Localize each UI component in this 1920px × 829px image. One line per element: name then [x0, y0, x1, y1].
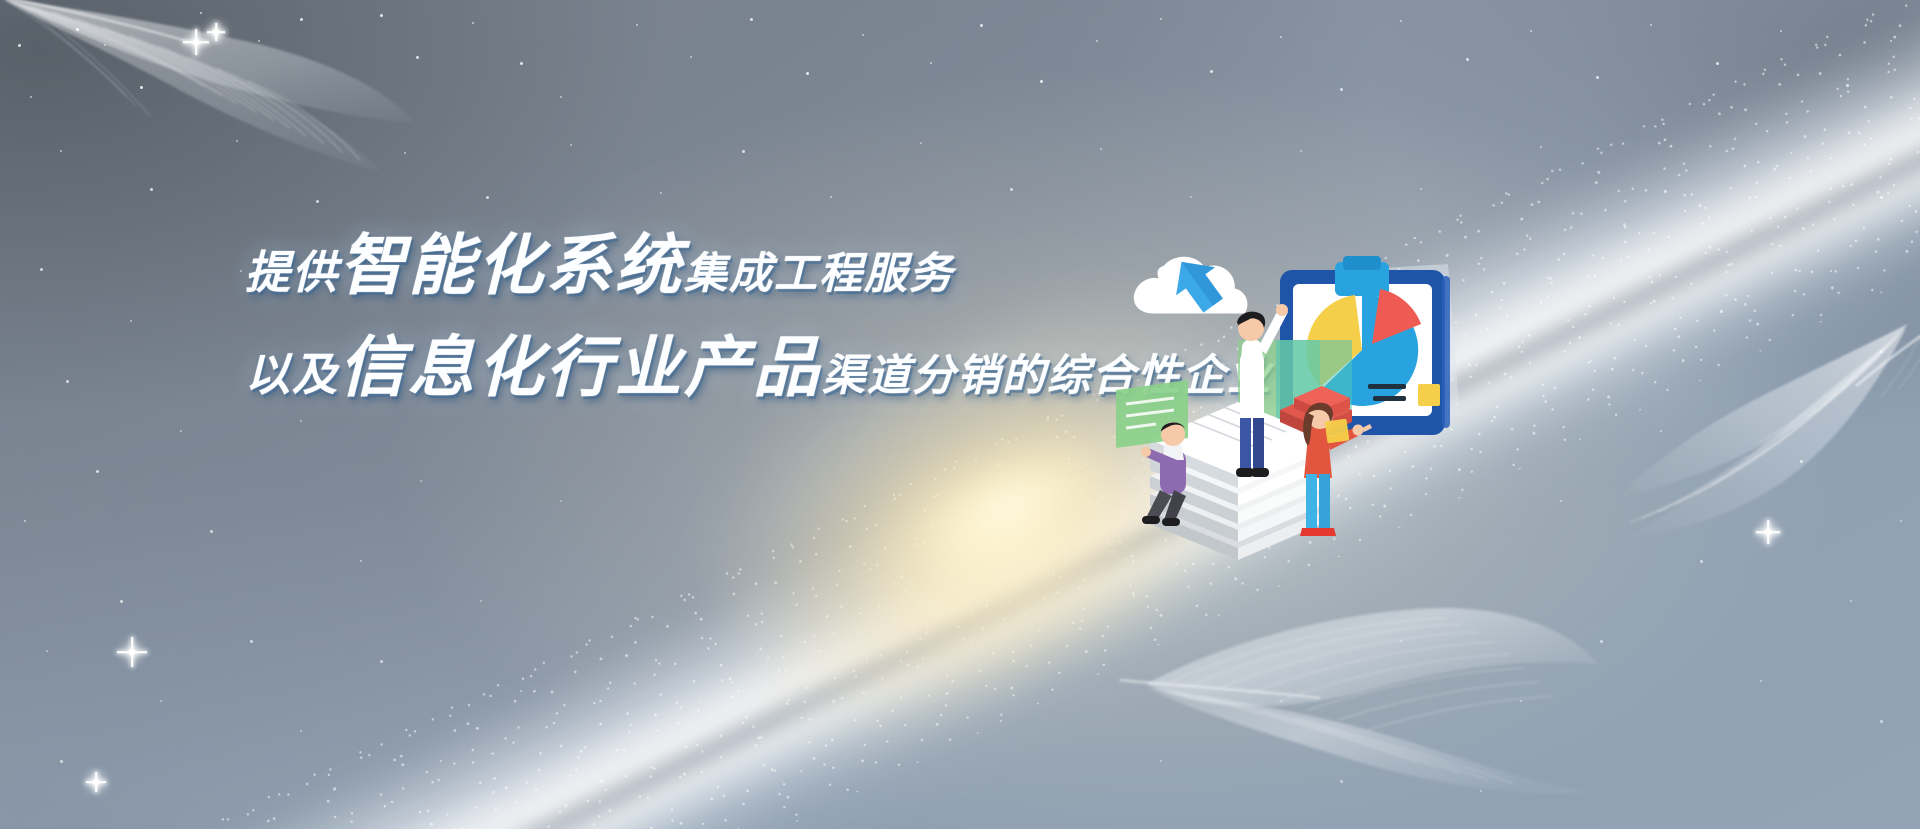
headline-line2-prefix: 以及: [245, 352, 339, 397]
headline-line1-suffix: 集成工程服务: [684, 253, 954, 296]
banner-stage: 提供智能化系统集成工程服务 以及信息化行业产品渠道分销的综合性企业: [0, 0, 1920, 829]
headline-line1-emphasis: 智能化系统: [339, 232, 684, 298]
vignette-overlay: [0, 0, 1920, 829]
headline: 提供智能化系统集成工程服务 以及信息化行业产品渠道分销的综合性企业: [245, 232, 1255, 400]
business-analytics-illustration: [1130, 262, 1610, 592]
headline-line2-emphasis: 信息化行业产品: [339, 334, 822, 400]
headline-line-2: 以及信息化行业产品渠道分销的综合性企业: [245, 334, 1255, 400]
headline-line-1: 提供智能化系统集成工程服务: [245, 232, 1255, 298]
headline-line1-prefix: 提供: [245, 250, 339, 295]
